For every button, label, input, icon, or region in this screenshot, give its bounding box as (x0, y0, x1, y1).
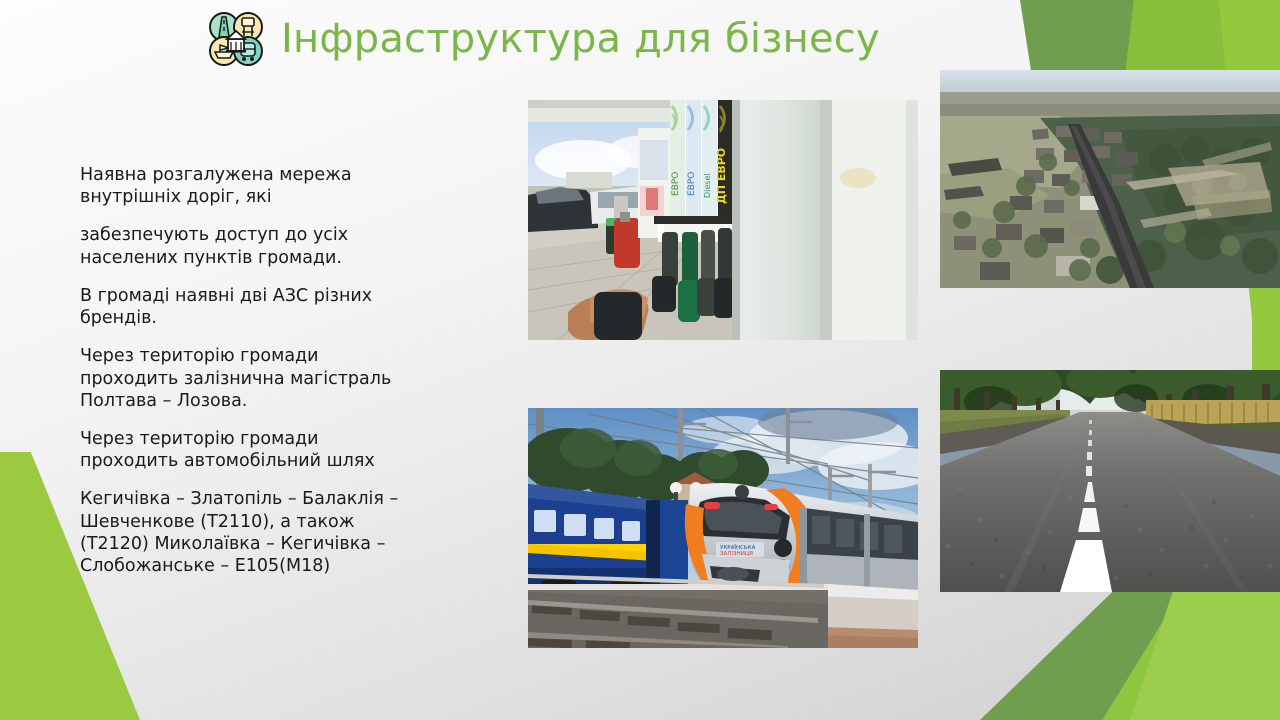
svg-text:ЗАЛІЗНИЦЯ: ЗАЛІЗНИЦЯ (720, 551, 753, 557)
paragraph-railway: Через територію громади проходить залізн… (80, 345, 480, 412)
svg-text:ДП ЕВРО: ДП ЕВРО (715, 148, 728, 204)
svg-text:ЕВРО: ЕВРО (687, 172, 697, 196)
svg-text:Diesel: Diesel (703, 173, 712, 198)
paragraph-gas-stations: В громаді наявні дві АЗС різних брендів. (80, 285, 480, 329)
slide-header: Інфраструктура для бізнесу (205, 8, 880, 70)
train-photo: УКРАЇНСЬКА ЗАЛІЗНИЦЯ (528, 408, 918, 648)
presentation-slide: Інфраструктура для бізнесу Наявна розгал… (0, 0, 1280, 720)
paragraph-access: забезпечують доступ до усіх населених пу… (80, 224, 480, 268)
gas-station-photo: 3|4 ЕВР (528, 100, 918, 340)
page-title: Інфраструктура для бізнесу (281, 16, 880, 62)
aerial-village-photo (940, 70, 1280, 288)
infrastructure-icon (205, 8, 267, 70)
svg-text:ЕВРО: ЕВРО (671, 172, 681, 196)
svg-text:УКРАЇНСЬКА: УКРАЇНСЬКА (720, 544, 756, 551)
paragraph-roads-network: Наявна розгалужена мережа внутрішніх дор… (80, 164, 480, 208)
paragraph-highway-intro: Через територію громади проходить автомо… (80, 428, 480, 472)
road-photo (940, 370, 1280, 592)
body-text-block: Наявна розгалужена мережа внутрішніх дор… (80, 164, 480, 577)
paragraph-highway-routes: Кегичівка – Златопіль – Балаклія – Шевче… (80, 488, 480, 577)
